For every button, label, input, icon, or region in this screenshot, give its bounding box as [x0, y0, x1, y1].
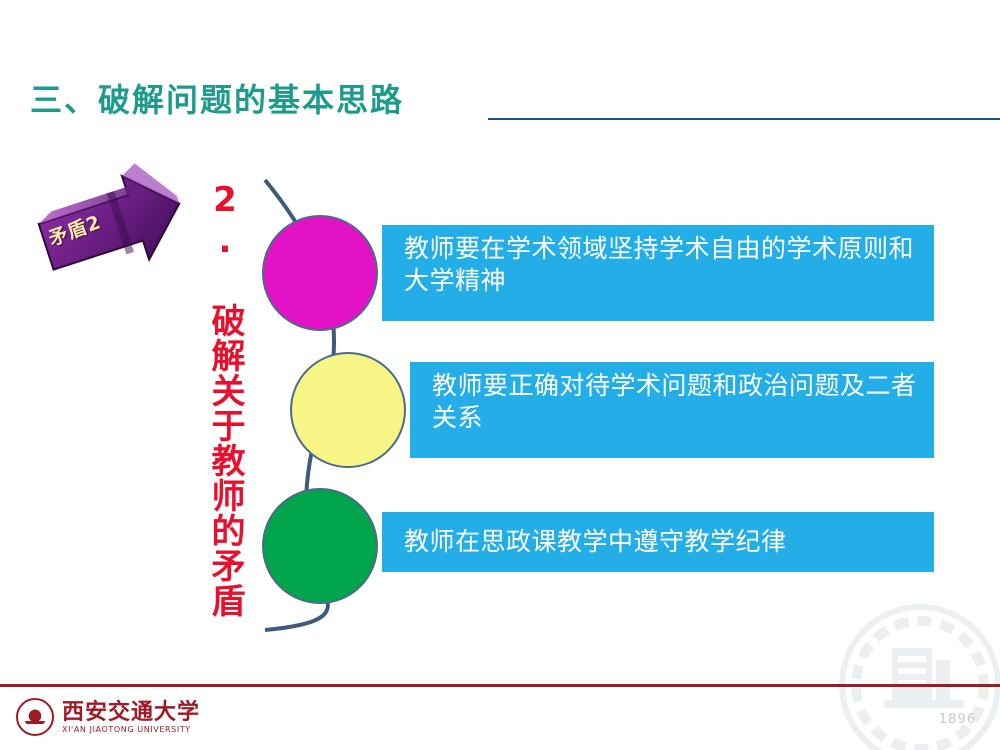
bullet-bar-1: 教师要在学术领域坚持学术自由的学术原则和大学精神 — [382, 225, 934, 321]
bullet-circle-1 — [262, 215, 378, 331]
page-title: 三、破解问题的基本思路 — [30, 75, 404, 121]
bullet-bar-3: 教师在思政课教学中遵守教学纪律 — [382, 512, 934, 572]
university-seal-icon — [16, 698, 54, 736]
bullet-bar-2: 教师要正确对待学术问题和政治问题及二者关系 — [410, 362, 934, 458]
university-name-cn: 西安交通大学 — [62, 701, 200, 723]
vertical-section-heading: 2. 破解关于教师的矛盾 — [184, 180, 242, 620]
university-logo: 西安交通大学 XI'AN JIAOTONG UNIVERSITY — [16, 694, 226, 740]
title-underline-rule — [488, 118, 1000, 120]
bullet-circle-3 — [262, 488, 378, 604]
arrow-badge — [25, 155, 190, 300]
university-name-en: XI'AN JIAOTONG UNIVERSITY — [62, 726, 200, 734]
bullet-circle-2 — [290, 352, 406, 468]
footer-rule — [0, 684, 1000, 687]
footer-year: 1896 — [939, 712, 976, 727]
